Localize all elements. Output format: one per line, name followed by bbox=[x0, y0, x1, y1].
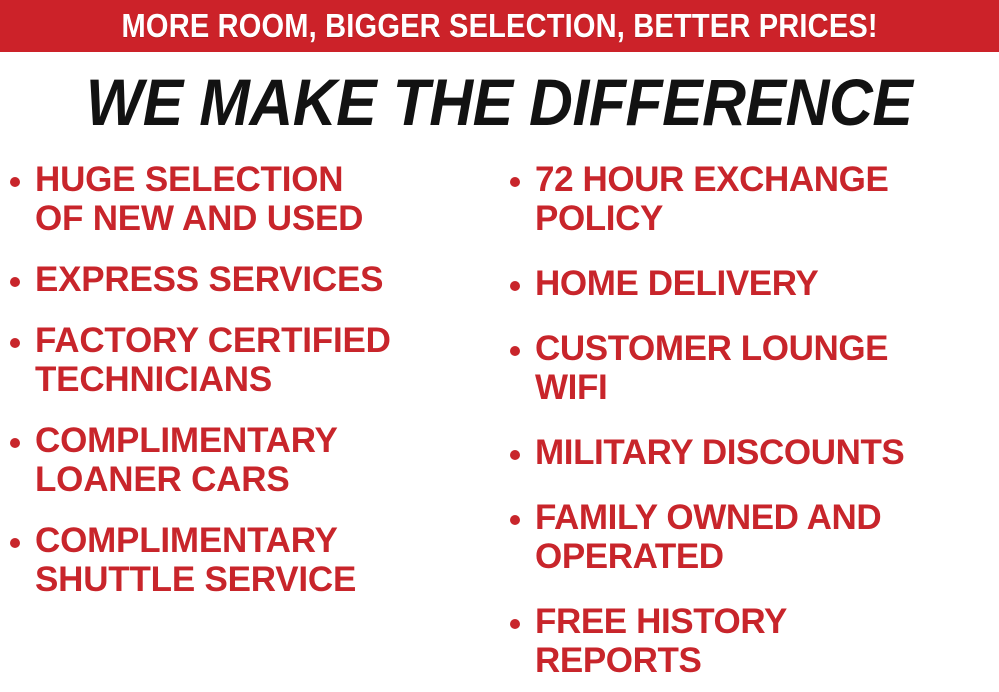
bullet-dot-icon bbox=[10, 438, 20, 448]
list-item-label: COMPLIMENTARY LOANER CARS bbox=[35, 421, 480, 499]
list-item: FREE HISTORY REPORTS bbox=[510, 602, 999, 680]
bullet-dot-icon bbox=[510, 177, 520, 187]
list-item: HOME DELIVERY bbox=[510, 264, 999, 303]
list-item: FAMILY OWNED AND OPERATED bbox=[510, 498, 999, 576]
list-item: 72 HOUR EXCHANGE POLICY bbox=[510, 160, 999, 238]
features-section: HUGE SELECTION OF NEW AND USED EXPRESS S… bbox=[0, 160, 999, 692]
list-item-label: FAMILY OWNED AND OPERATED bbox=[535, 498, 999, 576]
features-right-column: 72 HOUR EXCHANGE POLICY HOME DELIVERY CU… bbox=[510, 160, 999, 692]
list-item-label: COMPLIMENTARY SHUTTLE SERVICE bbox=[35, 521, 480, 599]
bullet-dot-icon bbox=[10, 338, 20, 348]
bullet-dot-icon bbox=[10, 177, 20, 187]
list-item-label: HOME DELIVERY bbox=[535, 264, 999, 303]
list-item: FACTORY CERTIFIED TECHNICIANS bbox=[10, 321, 480, 399]
list-item: MILITARY DISCOUNTS bbox=[510, 433, 999, 472]
top-promo-banner: MORE ROOM, BIGGER SELECTION, BETTER PRIC… bbox=[0, 0, 999, 52]
list-item-label: CUSTOMER LOUNGE WIFI bbox=[535, 329, 999, 407]
bullet-dot-icon bbox=[10, 538, 20, 548]
list-item-label: FREE HISTORY REPORTS bbox=[535, 602, 999, 680]
headline: WE MAKE THE DIFFERENCE bbox=[0, 68, 999, 136]
list-item: EXPRESS SERVICES bbox=[10, 260, 480, 299]
list-item-label: FACTORY CERTIFIED TECHNICIANS bbox=[35, 321, 480, 399]
list-item-label: EXPRESS SERVICES bbox=[35, 260, 480, 299]
features-left-column: HUGE SELECTION OF NEW AND USED EXPRESS S… bbox=[10, 160, 480, 621]
list-item: COMPLIMENTARY SHUTTLE SERVICE bbox=[10, 521, 480, 599]
bullet-dot-icon bbox=[510, 281, 520, 291]
list-item-label: HUGE SELECTION OF NEW AND USED bbox=[35, 160, 480, 238]
bullet-dot-icon bbox=[10, 277, 20, 287]
list-item: HUGE SELECTION OF NEW AND USED bbox=[10, 160, 480, 238]
bullet-dot-icon bbox=[510, 346, 520, 356]
list-item: COMPLIMENTARY LOANER CARS bbox=[10, 421, 480, 499]
list-item: CUSTOMER LOUNGE WIFI bbox=[510, 329, 999, 407]
list-item-label: 72 HOUR EXCHANGE POLICY bbox=[535, 160, 999, 238]
headline-text: WE MAKE THE DIFFERENCE bbox=[86, 68, 912, 136]
top-promo-banner-text: MORE ROOM, BIGGER SELECTION, BETTER PRIC… bbox=[121, 9, 877, 43]
bullet-dot-icon bbox=[510, 450, 520, 460]
list-item-label: MILITARY DISCOUNTS bbox=[535, 433, 999, 472]
bullet-dot-icon bbox=[510, 515, 520, 525]
promotional-banner-ad: MORE ROOM, BIGGER SELECTION, BETTER PRIC… bbox=[0, 0, 999, 692]
bullet-dot-icon bbox=[510, 619, 520, 629]
